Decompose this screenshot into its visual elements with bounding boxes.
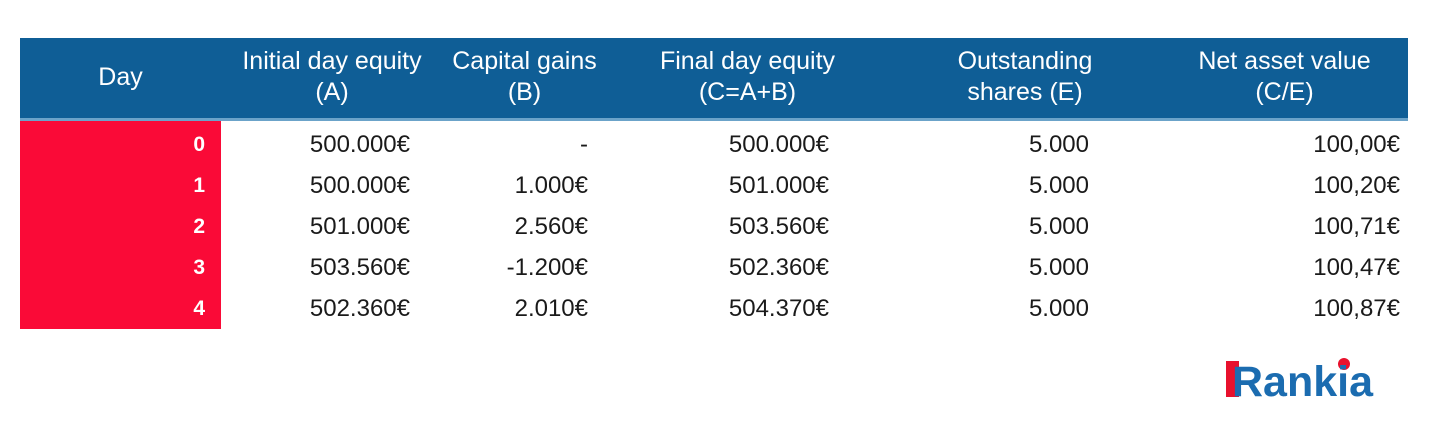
cell-outstanding-shares: 5.000 (889, 247, 1161, 288)
nav-table-container: Day Initial day equity (A) Capital gains… (20, 38, 1408, 329)
cell-day: 3 (20, 247, 221, 288)
cell-day: 2 (20, 206, 221, 247)
table-header: Day Initial day equity (A) Capital gains… (20, 38, 1408, 120)
column-header-initial-day-equity: Initial day equity (A) (221, 38, 443, 120)
column-header-day-line1: Day (26, 62, 215, 93)
column-header-initial-day-equity-line1: Initial day equity (227, 46, 437, 77)
cell-net-asset-value: 100,00€ (1161, 120, 1408, 166)
table-row: 1 500.000€ 1.000€ 501.000€ 5.000 100,20€ (20, 165, 1408, 206)
column-header-initial-day-equity-line2: (A) (227, 77, 437, 108)
cell-net-asset-value: 100,87€ (1161, 288, 1408, 329)
column-header-capital-gains-line2: (B) (449, 77, 600, 108)
cell-final-day-equity: 504.370€ (606, 288, 889, 329)
cell-final-day-equity: 500.000€ (606, 120, 889, 166)
cell-initial-day-equity: 503.560€ (221, 247, 443, 288)
cell-final-day-equity: 502.360€ (606, 247, 889, 288)
cell-outstanding-shares: 5.000 (889, 120, 1161, 166)
column-header-net-asset-value-line2: (C/E) (1167, 77, 1402, 108)
cell-day: 4 (20, 288, 221, 329)
column-header-final-day-equity-line1: Final day equity (612, 46, 883, 77)
column-header-net-asset-value-line1: Net asset value (1167, 46, 1402, 77)
cell-capital-gains: -1.200€ (443, 247, 606, 288)
column-header-final-day-equity: Final day equity (C=A+B) (606, 38, 889, 120)
cell-capital-gains: 2.560€ (443, 206, 606, 247)
table-row: 3 503.560€ -1.200€ 502.360€ 5.000 100,47… (20, 247, 1408, 288)
column-header-net-asset-value: Net asset value (C/E) (1161, 38, 1408, 120)
table-row: 4 502.360€ 2.010€ 504.370€ 5.000 100,87€ (20, 288, 1408, 329)
column-header-day: Day (20, 38, 221, 120)
column-header-capital-gains-line1: Capital gains (449, 46, 600, 77)
cell-final-day-equity: 503.560€ (606, 206, 889, 247)
cell-initial-day-equity: 500.000€ (221, 165, 443, 206)
cell-net-asset-value: 100,47€ (1161, 247, 1408, 288)
cell-net-asset-value: 100,20€ (1161, 165, 1408, 206)
column-header-outstanding-shares-line1: Outstanding (895, 46, 1155, 77)
cell-initial-day-equity: 501.000€ (221, 206, 443, 247)
cell-outstanding-shares: 5.000 (889, 288, 1161, 329)
cell-capital-gains: 1.000€ (443, 165, 606, 206)
column-header-capital-gains: Capital gains (B) (443, 38, 606, 120)
header-row: Day Initial day equity (A) Capital gains… (20, 38, 1408, 120)
table-row: 0 500.000€ - 500.000€ 5.000 100,00€ (20, 120, 1408, 166)
table-row: 2 501.000€ 2.560€ 503.560€ 5.000 100,71€ (20, 206, 1408, 247)
cell-initial-day-equity: 502.360€ (221, 288, 443, 329)
column-header-outstanding-shares-line2: shares (E) (895, 77, 1155, 108)
column-header-final-day-equity-line2: (C=A+B) (612, 77, 883, 108)
svg-text:Rankia: Rankia (1232, 358, 1374, 400)
cell-final-day-equity: 501.000€ (606, 165, 889, 206)
net-asset-value-table: Day Initial day equity (A) Capital gains… (20, 38, 1408, 329)
cell-initial-day-equity: 500.000€ (221, 120, 443, 166)
table-body: 0 500.000€ - 500.000€ 5.000 100,00€ 1 50… (20, 120, 1408, 330)
cell-outstanding-shares: 5.000 (889, 206, 1161, 247)
rankia-logo: Rankia (1226, 358, 1402, 400)
cell-capital-gains: - (443, 120, 606, 166)
rankia-logo-icon: Rankia (1226, 356, 1402, 400)
cell-day: 0 (20, 120, 221, 166)
cell-net-asset-value: 100,71€ (1161, 206, 1408, 247)
column-header-outstanding-shares: Outstanding shares (E) (889, 38, 1161, 120)
cell-capital-gains: 2.010€ (443, 288, 606, 329)
cell-day: 1 (20, 165, 221, 206)
cell-outstanding-shares: 5.000 (889, 165, 1161, 206)
